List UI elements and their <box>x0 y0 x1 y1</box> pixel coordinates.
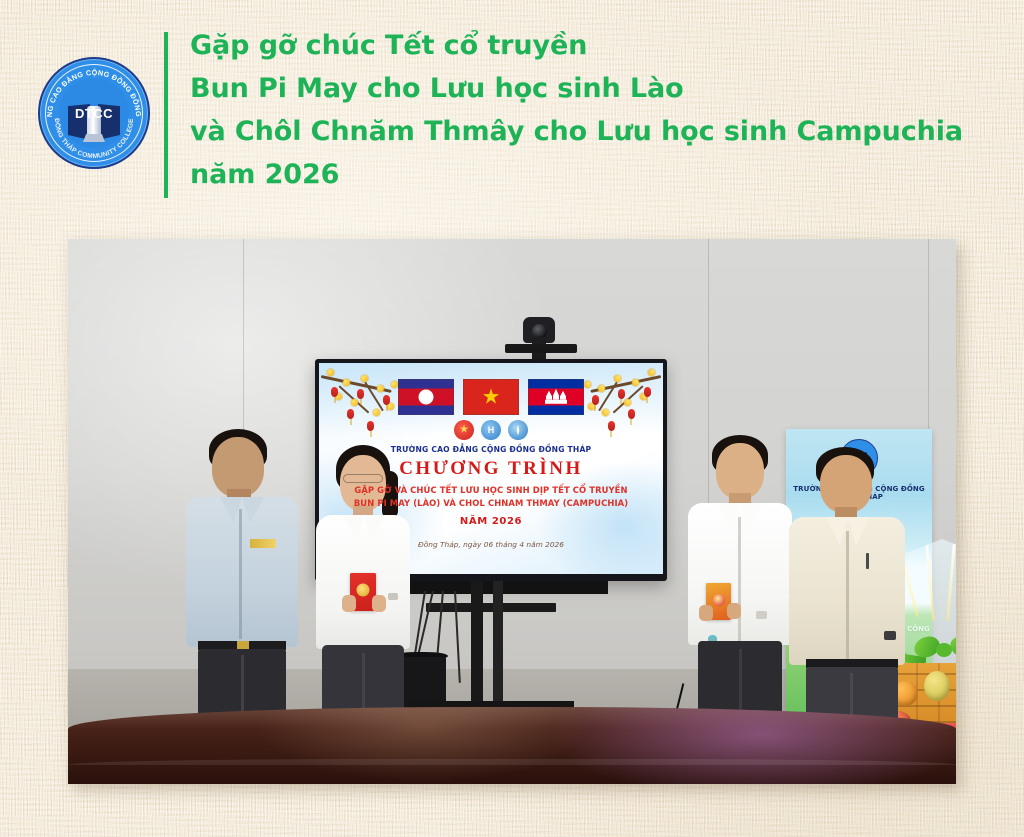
flags-row: ★ <box>319 379 663 415</box>
slide-date: Đồng Tháp, ngày 06 tháng 4 năm 2026 <box>331 540 651 549</box>
pocket-pen <box>866 553 869 569</box>
slide-subtitle-1: GẶP GỠ VÀ CHÚC TẾT LƯU HỌC SINH DỊP TẾT … <box>331 484 651 498</box>
face <box>212 437 264 497</box>
camera-mount-bar <box>505 344 577 353</box>
name-badge <box>250 539 276 548</box>
logo-inner-disc: DTCC <box>59 78 129 148</box>
title-accent-bar <box>164 32 168 198</box>
tv-screen: ★ <box>319 363 663 574</box>
event-photo: TRƯỜNG CAO ĐẲNG CỘNG ĐỒNG ĐỒNG THÁP CAMI… <box>68 239 956 784</box>
doan-emblem-icon <box>454 420 474 440</box>
tv-stand-column-2 <box>493 581 503 703</box>
slide-text-block: TRƯỜNG CAO ĐẲNG CỘNG ĐỒNG ĐỒNG THÁP CHƯƠ… <box>331 445 651 549</box>
slide-heading: CHƯƠNG TRÌNH <box>331 459 651 479</box>
header: TRƯỜNG CAO ĐẲNG CỘNG ĐỒNG ĐỒNG THÁP ĐỒNG… <box>0 0 1024 230</box>
fruit-pear <box>924 671 950 701</box>
organization-emblems <box>319 420 663 440</box>
slide-subtitle-2: BUN PI MAY (LÀO) VÀ CHOL CHNAM THMAY (CA… <box>331 497 651 511</box>
title-line-2: Bun Pi May cho Lưu học sinh Lào <box>190 67 1000 110</box>
flag-vietnam: ★ <box>463 379 519 415</box>
face <box>716 443 764 499</box>
shirt-placket <box>239 509 242 639</box>
page-title: Gặp gỡ chúc Tết cổ truyền Bun Pi May cho… <box>190 24 1000 196</box>
title-line-3: và Chôl Chnăm Thmây cho Lưu học sinh Cam… <box>190 110 1000 153</box>
table-light-reflection <box>68 707 956 784</box>
shirt-placket <box>738 517 741 641</box>
flag-laos <box>398 379 454 415</box>
hoi-sinh-vien-emblem-icon <box>508 420 528 440</box>
hand-right <box>727 603 741 619</box>
conference-table <box>68 707 956 784</box>
logo-acronym: DTCC <box>59 106 129 121</box>
wristwatch <box>388 593 398 600</box>
flag-cambodia <box>528 379 584 415</box>
title-line-1: Gặp gỡ chúc Tết cổ truyền <box>190 24 1000 67</box>
dtcc-logo: TRƯỜNG CAO ĐẲNG CỘNG ĐỒNG ĐỒNG THÁP ĐỒNG… <box>38 57 150 169</box>
table-edge-highlight <box>68 759 956 765</box>
hoi-lhtn-emblem-icon <box>481 420 501 440</box>
wristwatch <box>884 631 896 640</box>
hand-left <box>342 595 356 612</box>
shirt-placket <box>846 531 849 661</box>
hand-left <box>699 605 713 621</box>
page-background: TRƯỜNG CAO ĐẲNG CỘNG ĐỒNG ĐỒNG THÁP ĐỒNG… <box>0 0 1024 837</box>
slide-school-name: TRƯỜNG CAO ĐẲNG CỘNG ĐỒNG ĐỒNG THÁP <box>331 445 651 454</box>
tv-display: ★ <box>315 359 667 581</box>
face <box>820 455 872 513</box>
wristwatch <box>756 611 767 619</box>
hand-right <box>372 595 386 612</box>
light-blue-shirt <box>186 497 298 647</box>
title-line-4: năm 2026 <box>190 153 1000 196</box>
slide-year: NĂM 2026 <box>331 516 651 527</box>
